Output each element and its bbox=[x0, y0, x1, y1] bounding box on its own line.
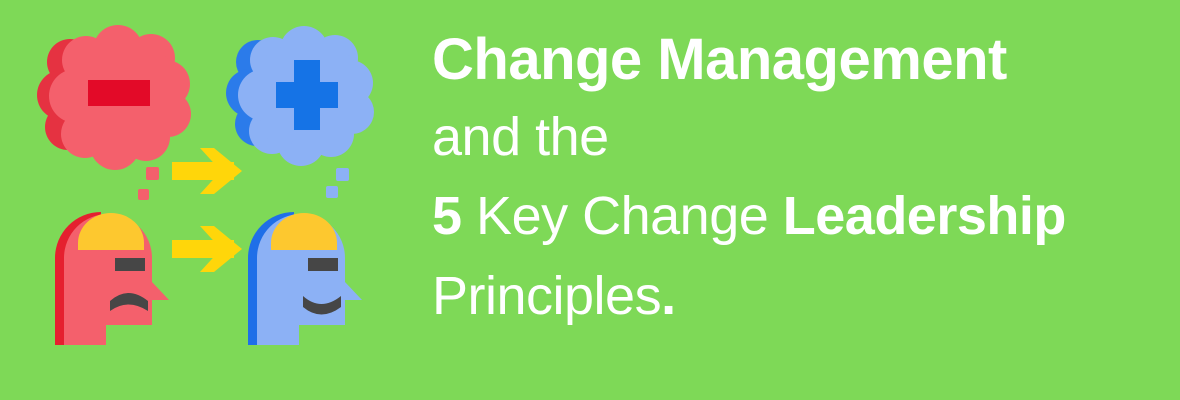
headline-number: 5 bbox=[432, 186, 462, 246]
happy-head bbox=[248, 212, 362, 345]
minus-sign bbox=[88, 80, 150, 106]
headline-line-2-text: and the bbox=[432, 107, 609, 167]
sad-head-eye bbox=[115, 258, 145, 271]
positive-bubble-tail bbox=[326, 168, 349, 198]
sad-head bbox=[55, 212, 169, 345]
change-illustration bbox=[0, 0, 420, 400]
happy-head-eye bbox=[308, 258, 338, 271]
headline-line-1-text: Change Management bbox=[432, 27, 1007, 92]
headline-block: Change Management and the 5 Key Change L… bbox=[432, 22, 1162, 336]
headline-line-2: and the bbox=[432, 98, 1162, 176]
negative-thought-bubble bbox=[37, 25, 191, 170]
headline-leadership: Leadership bbox=[783, 186, 1066, 246]
headline-line-4: Principles. bbox=[432, 256, 1162, 336]
positive-thought-bubble bbox=[226, 26, 374, 166]
arrow-top bbox=[172, 148, 242, 194]
arrow-bottom bbox=[172, 226, 242, 272]
headline-line-1: Change Management bbox=[432, 22, 1162, 98]
headline-line-3-mid: Key Change bbox=[462, 186, 783, 246]
negative-bubble-tail bbox=[138, 167, 159, 200]
headline-principles: Principles bbox=[432, 266, 661, 326]
headline-line-3: 5 Key Change Leadership bbox=[432, 176, 1162, 256]
banner: Change Management and the 5 Key Change L… bbox=[0, 0, 1180, 400]
headline-period: . bbox=[661, 266, 676, 326]
